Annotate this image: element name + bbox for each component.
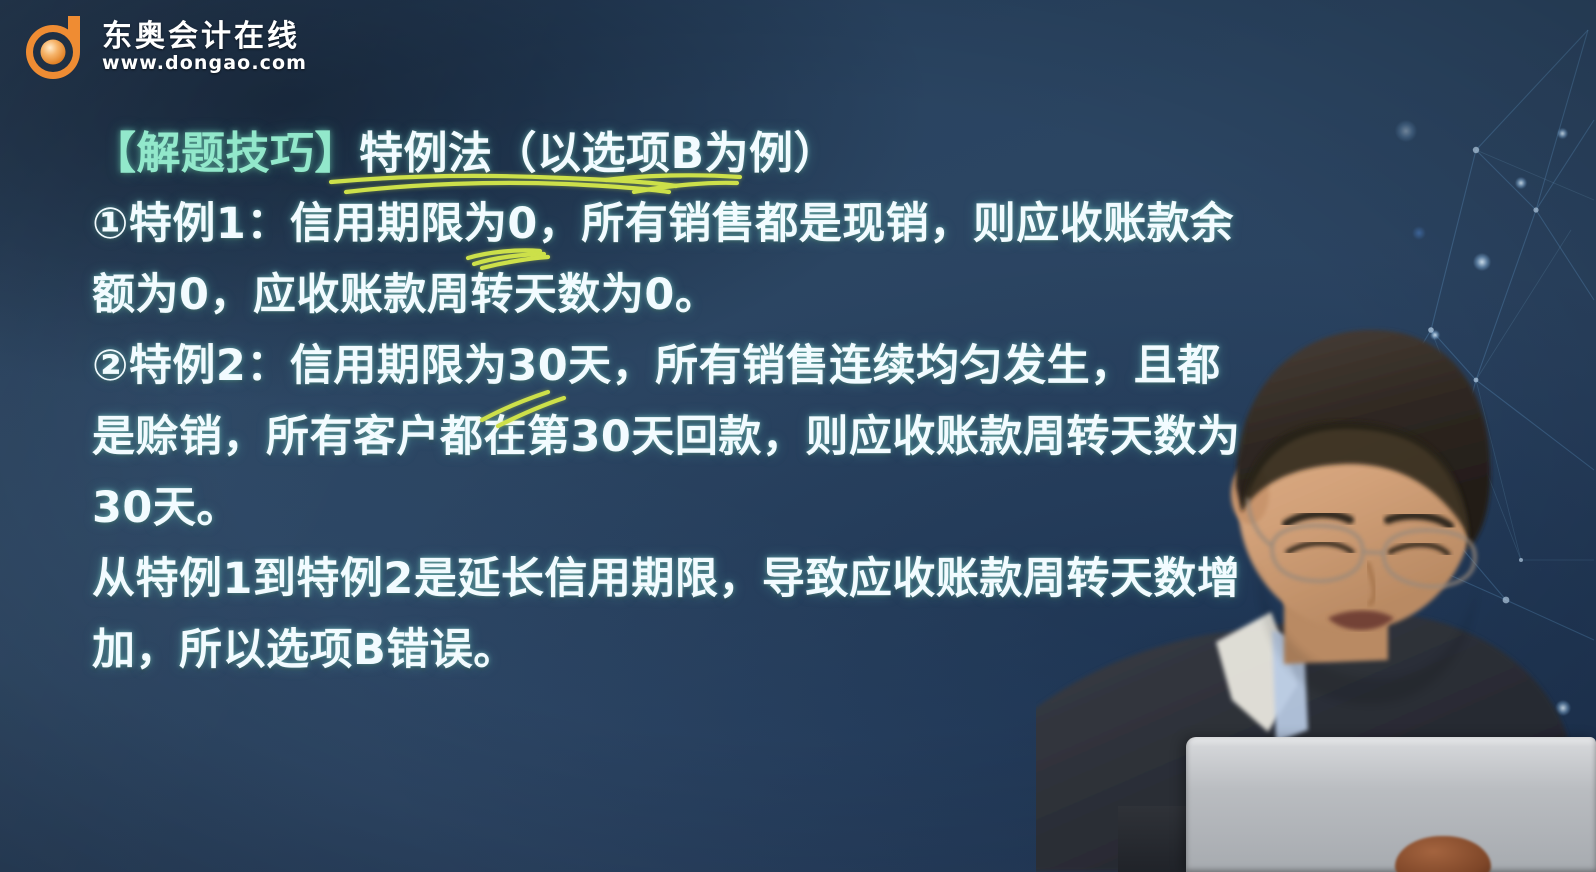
video-frame: 东奥会计在线 www.dongao.com 【解题技巧】特例法（以选项B为例） … <box>0 0 1596 872</box>
slide-line: 额为0，应收账款周转天数为0。 <box>92 260 1167 331</box>
slide-title-accent: 【解题技巧】 <box>92 128 359 179</box>
slide-line: ②特例2：信用期限为30天，所有销售连续均匀发生，且都 <box>92 331 1167 402</box>
slide-line: 30天。 <box>92 473 1167 544</box>
channel-logo: 东奥会计在线 www.dongao.com <box>16 8 307 82</box>
dongao-d-logo-icon <box>16 8 90 82</box>
slide-title-rest: 特例法（以选项B为例） <box>359 128 838 179</box>
slide-content: 【解题技巧】特例法（以选项B为例） ①特例1：信用期限为0，所有销售都是现销，则… <box>92 118 1167 686</box>
slide-title: 【解题技巧】特例法（以选项B为例） <box>92 118 1167 189</box>
slide-line: ①特例1：信用期限为0，所有销售都是现销，则应收账款余 <box>92 189 1167 260</box>
slide-line: 加，所以选项B错误。 <box>92 615 1167 686</box>
slide-line: 是赊销，所有客户都在第30天回款，则应收账款周转天数为 <box>92 402 1167 473</box>
brand-name: 东奥会计在线 <box>102 22 307 52</box>
brand-url: www.dongao.com <box>102 54 307 73</box>
slide-line: 从特例1到特例2是延长信用期限，导致应收账款周转天数增 <box>92 544 1167 615</box>
